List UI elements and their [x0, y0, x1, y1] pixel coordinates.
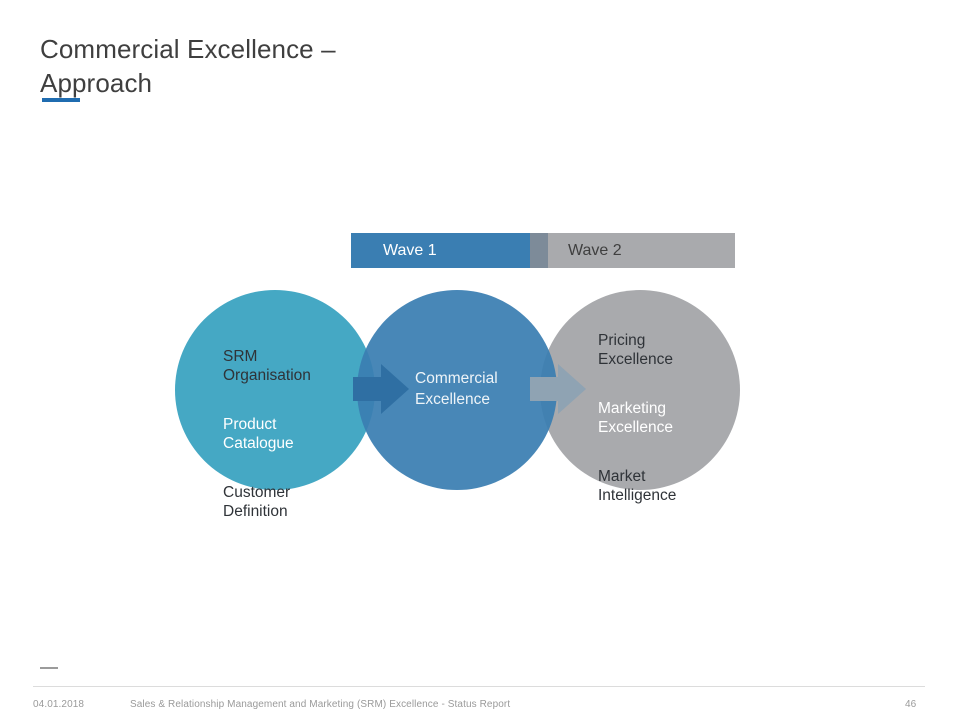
wave-1-label: Wave 1 — [383, 242, 437, 260]
list-item: SRM Organisation — [223, 347, 358, 385]
list-item: CRM — [598, 535, 728, 554]
list-item: Product Catalogue — [223, 415, 358, 453]
arrow-right-icon-right — [530, 362, 586, 416]
list-item: Customer Definition — [223, 483, 358, 521]
footer-dash-mark — [40, 667, 58, 669]
footer-title: Sales & Relationship Management and Mark… — [130, 699, 510, 710]
commercial-excellence-diagram: SRM Organisation Product Catalogue Custo… — [175, 290, 740, 500]
list-item: Marketing Excellence — [598, 399, 728, 437]
wave-1-segment[interactable]: Wave 1 — [351, 233, 530, 268]
right-circle-items: Pricing Excellence Marketing Excellence … — [598, 312, 728, 573]
footer-divider — [33, 686, 925, 687]
wave-2-segment[interactable]: Wave 2 — [548, 233, 735, 268]
list-item: Market Intelligence — [598, 467, 728, 505]
wave-header-bar: Wave 1 Wave 2 — [351, 233, 735, 268]
footer-date: 04.01.2018 — [33, 699, 84, 710]
left-circle-items: SRM Organisation Product Catalogue Custo… — [223, 328, 358, 540]
page-title: Commercial Excellence – Approach — [40, 32, 560, 100]
center-circle-label: Commercial Excellence — [415, 368, 535, 410]
list-item: Pricing Excellence — [598, 331, 728, 369]
title-accent-underline — [42, 98, 80, 102]
page-number: 46 — [905, 699, 916, 710]
arrow-right-icon-left — [353, 362, 409, 416]
wave-2-label: Wave 2 — [568, 242, 622, 260]
